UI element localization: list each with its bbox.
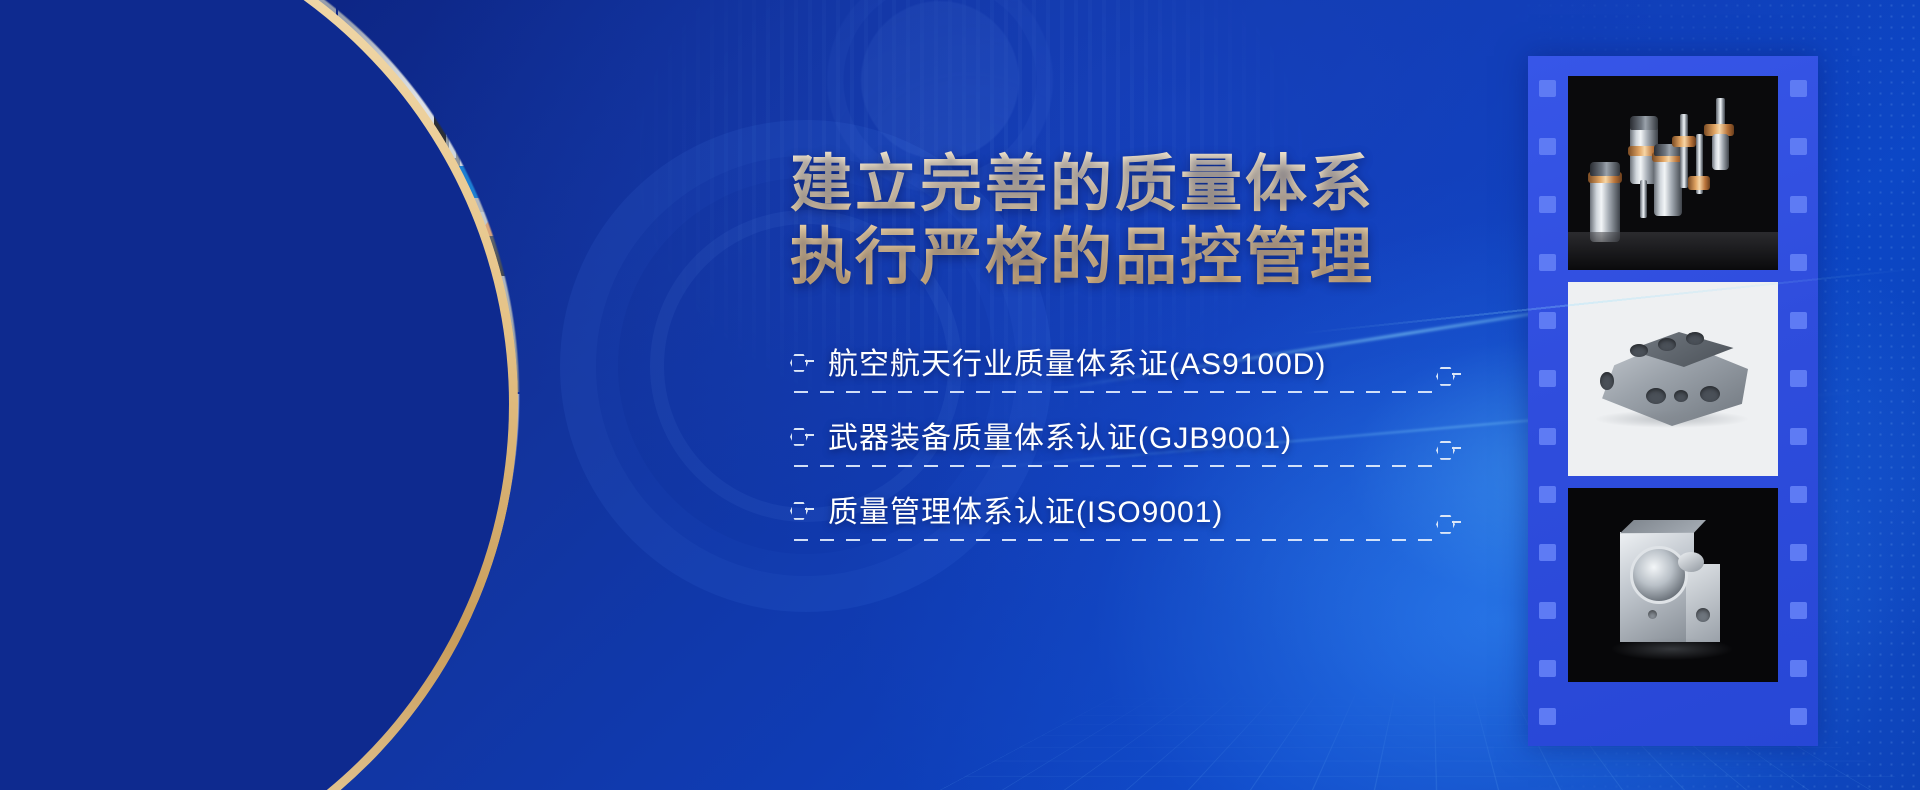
certification-label: 武器装备质量体系认证(GJB9001) (828, 413, 1292, 457)
hex-bullet-icon (790, 425, 810, 445)
certification-item-1: 航空航天行业质量体系证(AS9100D) (790, 339, 1430, 413)
hex-end-marker-icon (1436, 441, 1454, 459)
page-title: 建立完善的质量体系 执行严格的品控管理 (790, 150, 1430, 293)
product-image-housing (1568, 282, 1778, 476)
dashed-rule (794, 391, 1440, 393)
photo-technician-bench (338, 0, 690, 392)
hex-end-marker-icon (1436, 515, 1454, 533)
quality-system-banner: 建立完善的质量体系 执行严格的品控管理 航空航天行业质量体系证(AS9100D)… (0, 0, 1920, 790)
dashed-rule (794, 465, 1440, 467)
certification-label: 航空航天行业质量体系证(AS9100D) (828, 339, 1326, 383)
certification-label: 质量管理体系认证(ISO9001) (828, 487, 1223, 531)
photo-inspector-height-gauge (0, 0, 336, 392)
headline-block: 建立完善的质量体系 执行严格的品控管理 航空航天行业质量体系证(AS9100D)… (790, 150, 1430, 561)
headline-line-2: 执行严格的品控管理 (790, 223, 1430, 292)
certification-list: 航空航天行业质量体系证(AS9100D) 武器装备质量体系认证(GJB9001)… (790, 339, 1430, 561)
certification-item-3: 质量管理体系认证(ISO9001) (790, 487, 1430, 561)
certification-item-2: 武器装备质量体系认证(GJB9001) (790, 413, 1430, 487)
photo-collage (0, 0, 690, 790)
hex-bullet-icon (790, 499, 810, 519)
photo-cnc-operator (338, 394, 690, 790)
photo-cmm-operator (0, 394, 336, 790)
product-image-bearing-block (1568, 488, 1778, 682)
product-filmstrip (1528, 56, 1818, 746)
headline-line-1: 建立完善的质量体系 (790, 150, 1430, 219)
hex-end-marker-icon (1436, 367, 1454, 385)
dashed-rule (794, 539, 1440, 541)
hex-bullet-icon (790, 351, 810, 371)
product-image-shafts (1568, 76, 1778, 270)
